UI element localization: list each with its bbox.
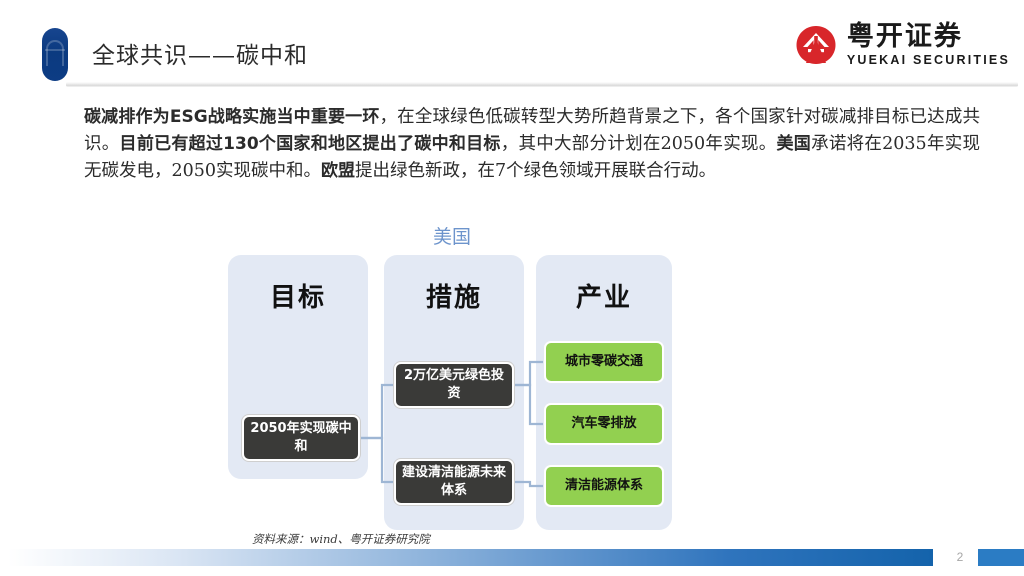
paragraph-plain-2: ，其中大部分计划在2050年实现。	[501, 134, 777, 154]
paragraph-bold-4: 欧盟	[321, 161, 355, 181]
page-number: 2	[946, 549, 974, 566]
footer-gradient-bar	[8, 549, 933, 566]
node-goal-1[interactable]: 2050年实现碳中和	[242, 415, 360, 461]
header-divider	[66, 82, 1018, 87]
pill-arch-shape	[46, 40, 64, 66]
paragraph-plain-4: 提出绿色新政，在7个绿色领域开展联合行动。	[355, 161, 716, 181]
paragraph-bold-2: 目前已有超过130个国家和地区提出了碳中和目标	[120, 134, 501, 154]
node-industry-3[interactable]: 清洁能源体系	[544, 465, 664, 507]
body-paragraph: 碳减排作为ESG战略实施当中重要一环，在全球绿色低碳转型大势所趋背景之下，各个国…	[84, 104, 980, 185]
pill-arch-bar	[45, 49, 65, 51]
logo-chinese-name: 粤开证券	[847, 23, 1010, 50]
slide-header: 全球共识——碳中和 粤开证券 YUEKAI SECURITIES	[0, 0, 1024, 92]
node-measure-1[interactable]: 2万亿美元绿色投资	[394, 362, 514, 408]
yuekai-emblem-icon	[793, 22, 839, 68]
node-industry-1[interactable]: 城市零碳交通	[544, 341, 664, 383]
page-title: 全球共识——碳中和	[92, 36, 308, 70]
node-measure-2[interactable]: 建设清洁能源未来体系	[394, 459, 514, 505]
node-industry-2[interactable]: 汽车零排放	[544, 403, 664, 445]
header-accent-pill-icon	[42, 28, 68, 81]
footer-accent-block	[978, 549, 1024, 566]
brand-logo: 粤开证券 YUEKAI SECURITIES	[793, 22, 1010, 68]
paragraph-bold-3: 美国	[777, 134, 812, 154]
paragraph-bold-1: 碳减排作为ESG战略实施当中重要一环	[84, 107, 379, 127]
logo-english-name: YUEKAI SECURITIES	[847, 54, 1010, 67]
usa-carbon-diagram: 美国 目标 措施 产业 2050年实现碳中和 2万亿美元绿色投资 建设清洁能源未…	[222, 222, 682, 532]
source-note: 资料来源：wind、粤开证券研究院	[252, 531, 430, 547]
logo-wordmark: 粤开证券 YUEKAI SECURITIES	[847, 23, 1010, 67]
